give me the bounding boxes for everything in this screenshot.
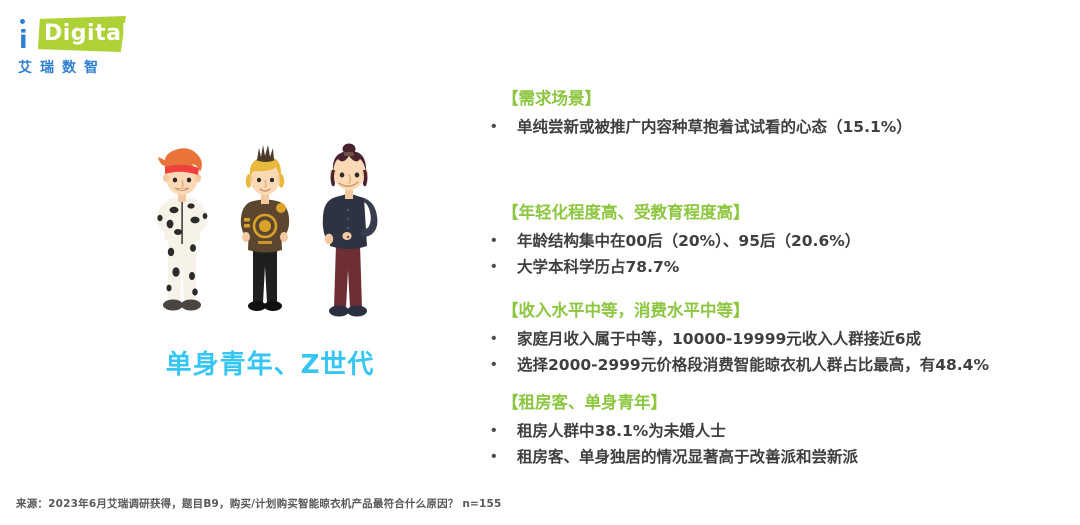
three-youths-illustration bbox=[140, 140, 400, 325]
bullet-text: 家庭月收入属于中等，10000-19999元收入人群接近6成 bbox=[517, 326, 1068, 352]
logo-mark: i Digital bbox=[14, 16, 129, 54]
source-note: 来源：2023年6月艾瑞调研获得，题目B9，购买/计划购买智能晾衣机产品最符合什… bbox=[16, 496, 502, 511]
bullet-dot-icon: • bbox=[488, 254, 517, 280]
bullet-dot-icon: • bbox=[488, 352, 517, 378]
slide-root: i Digital 艾瑞数智 bbox=[0, 0, 1080, 525]
bullet-dot-icon: • bbox=[488, 418, 517, 444]
logo-i-dot-icon bbox=[20, 19, 25, 24]
insights-panel: 【需求场景】 • 单纯尝新或被推广内容种草抱着试试看的心态（15.1%） 【年轻… bbox=[488, 88, 1068, 470]
spacer bbox=[488, 280, 1068, 300]
section-heading: 【需求场景】 bbox=[502, 88, 1068, 110]
spacer bbox=[488, 378, 1068, 392]
illustration-caption: 单身青年、Z世代 bbox=[120, 344, 420, 381]
logo-i-letter: i bbox=[19, 27, 28, 52]
spacer bbox=[488, 140, 1068, 202]
list-item: • 大学本科学历占78.7% bbox=[488, 254, 1068, 280]
bullet-text: 年龄结构集中在00后（20%）、95后（20.6%） bbox=[517, 228, 1068, 254]
figure-orange-hair-youth bbox=[157, 148, 208, 310]
bullet-text: 租房人群中38.1%为未婚人士 bbox=[517, 418, 1068, 444]
section-youthfulness-education: 【年轻化程度高、受教育程度高】 • 年龄结构集中在00后（20%）、95后（20… bbox=[488, 202, 1068, 280]
section-heading: 【年轻化程度高、受教育程度高】 bbox=[502, 202, 1068, 224]
bullet-text: 大学本科学历占78.7% bbox=[517, 254, 1068, 280]
bullet-text: 单纯尝新或被推广内容种草抱着试试看的心态（15.1%） bbox=[517, 114, 1068, 140]
bullet-dot-icon: • bbox=[488, 228, 517, 254]
section-heading: 【租房客、单身青年】 bbox=[502, 392, 1068, 414]
list-item: • 租房客、单身独居的情况显著高于改善派和尝新派 bbox=[488, 444, 1068, 470]
section-heading: 【收入水平中等，消费水平中等】 bbox=[502, 300, 1068, 322]
section-renters-singles: 【租房客、单身青年】 • 租房人群中38.1%为未婚人士 • 租房客、单身独居的… bbox=[488, 392, 1068, 470]
logo-subtitle: 艾瑞数智 bbox=[18, 57, 106, 77]
section-income-consumption: 【收入水平中等，消费水平中等】 • 家庭月收入属于中等，10000-19999元… bbox=[488, 300, 1068, 378]
illustration-svg bbox=[140, 140, 400, 325]
list-item: • 家庭月收入属于中等，10000-19999元收入人群接近6成 bbox=[488, 326, 1068, 352]
bullet-dot-icon: • bbox=[488, 114, 517, 140]
bullet-dot-icon: • bbox=[488, 444, 517, 470]
list-item: • 单纯尝新或被推广内容种草抱着试试看的心态（15.1%） bbox=[488, 114, 1068, 140]
brand-logo: i Digital 艾瑞数智 bbox=[14, 16, 144, 78]
figure-mohawk-youth bbox=[241, 145, 289, 311]
bullet-dot-icon: • bbox=[488, 326, 517, 352]
section-demand-scenario: 【需求场景】 • 单纯尝新或被推广内容种草抱着试试看的心态（15.1%） bbox=[488, 88, 1068, 140]
figure-topknot-youth bbox=[323, 144, 378, 317]
list-item: • 年龄结构集中在00后（20%）、95后（20.6%） bbox=[488, 228, 1068, 254]
bullet-text: 选择2000-2999元价格段消费智能晾衣机人群占比最高，有48.4% bbox=[517, 352, 1068, 378]
list-item: • 租房人群中38.1%为未婚人士 bbox=[488, 418, 1068, 444]
bullet-text: 租房客、单身独居的情况显著高于改善派和尝新派 bbox=[517, 444, 1068, 470]
logo-wordmark: Digital bbox=[44, 21, 130, 47]
list-item: • 选择2000-2999元价格段消费智能晾衣机人群占比最高，有48.4% bbox=[488, 352, 1068, 378]
